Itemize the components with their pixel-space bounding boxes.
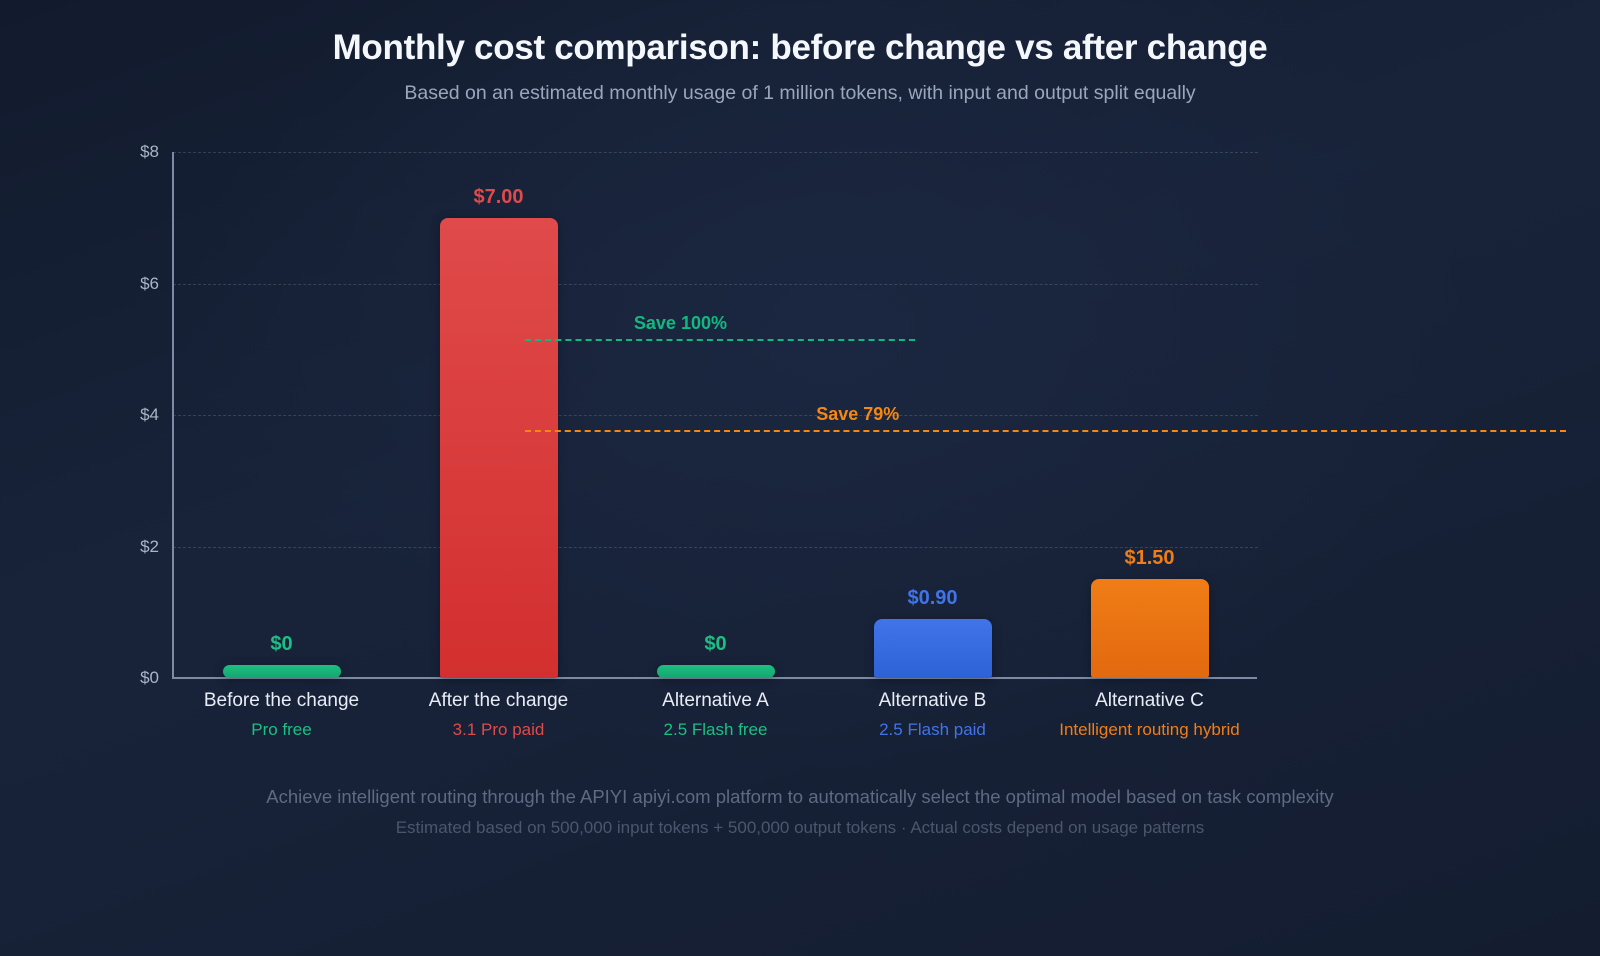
x-axis-sublabel: 3.1 Pro paid xyxy=(390,720,607,740)
x-axis-sublabel: 2.5 Flash free xyxy=(607,720,824,740)
x-axis-label-group: After the change3.1 Pro paid xyxy=(390,690,607,740)
bar[interactable] xyxy=(1091,579,1209,678)
x-axis-category-label: Alternative A xyxy=(607,690,824,712)
x-axis-label-group: Alternative CIntelligent routing hybrid xyxy=(1041,690,1258,740)
bar-slot: $1.50 xyxy=(1041,152,1258,678)
bar-series: $0$7.00$0$0.90$1.50 xyxy=(173,152,1258,678)
bar-slot: $7.00 xyxy=(390,152,607,678)
bar-slot: $0 xyxy=(173,152,390,678)
annotation-label: Save 79% xyxy=(816,404,899,425)
bar-group[interactable]: $0 xyxy=(657,633,775,678)
bar-slot: $0 xyxy=(607,152,824,678)
chart-canvas: Monthly cost comparison: before change v… xyxy=(0,0,1600,956)
bar[interactable] xyxy=(874,619,992,678)
plot-area: $0$2$4$6$8 $0$7.00$0$0.90$1.50 Save 100%… xyxy=(173,152,1258,678)
bar-group[interactable]: $0.90 xyxy=(874,587,992,678)
chart-subtitle: Based on an estimated monthly usage of 1… xyxy=(0,82,1600,105)
x-axis-label-group: Before the changePro free xyxy=(173,690,390,740)
y-axis-tick: $6 xyxy=(140,274,159,294)
bar-value-label: $0 xyxy=(704,633,726,656)
bar-value-label: $0.90 xyxy=(907,587,957,610)
annotation-label: Save 100% xyxy=(634,313,727,334)
x-axis-label-group: Alternative B2.5 Flash paid xyxy=(824,690,1041,740)
bar-group[interactable]: $1.50 xyxy=(1091,547,1209,678)
footnote-secondary: Estimated based on 500,000 input tokens … xyxy=(0,818,1600,838)
x-axis-labels: Before the changePro freeAfter the chang… xyxy=(173,690,1258,762)
bar[interactable] xyxy=(440,218,558,678)
bar[interactable] xyxy=(223,665,341,678)
x-axis-category-label: Alternative B xyxy=(824,690,1041,712)
x-axis-category-label: Alternative C xyxy=(1041,690,1258,712)
bar-value-label: $0 xyxy=(270,633,292,656)
chart-title: Monthly cost comparison: before change v… xyxy=(0,28,1600,68)
x-axis-sublabel: Intelligent routing hybrid xyxy=(1041,720,1258,740)
y-axis-tick: $4 xyxy=(140,405,159,425)
footnote-primary: Achieve intelligent routing through the … xyxy=(0,786,1600,808)
bar-value-label: $1.50 xyxy=(1124,547,1174,570)
x-axis-sublabel: Pro free xyxy=(173,720,390,740)
x-axis-sublabel: 2.5 Flash paid xyxy=(824,720,1041,740)
annotation-line xyxy=(525,430,1567,432)
x-axis-label-group: Alternative A2.5 Flash free xyxy=(607,690,824,740)
annotation-line xyxy=(525,339,916,341)
x-axis-category-label: After the change xyxy=(390,690,607,712)
y-axis-tick: $2 xyxy=(140,537,159,557)
y-axis-tick: $8 xyxy=(140,142,159,162)
y-axis-tick: $0 xyxy=(140,668,159,688)
bar[interactable] xyxy=(657,665,775,678)
bar-value-label: $7.00 xyxy=(473,186,523,209)
bar-group[interactable]: $0 xyxy=(223,633,341,678)
x-axis-category-label: Before the change xyxy=(173,690,390,712)
